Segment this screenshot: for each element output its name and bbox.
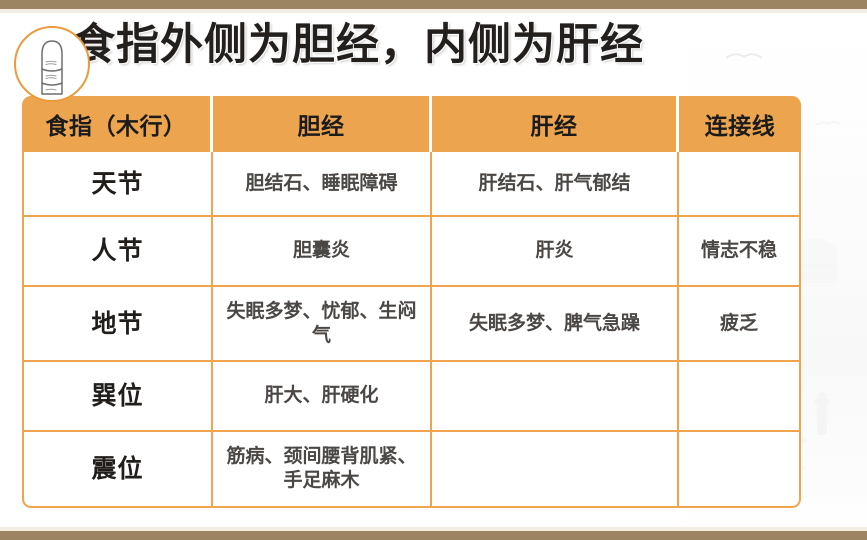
table-row: 巽位 肝大、肝硬化 — [22, 362, 801, 432]
column-header-finger: 食指（木行） — [22, 96, 213, 152]
column-header-connection: 连接线 — [679, 96, 801, 152]
row-label-xunwei: 巽位 — [22, 362, 213, 432]
cell-gallbladder-zhenwei: 筋病、颈间腰背肌紧、手足麻木 — [213, 432, 432, 508]
cell-gallbladder-renjie: 胆囊炎 — [213, 217, 432, 287]
table-row: 天节 胆结石、睡眠障碍 肝结石、肝气郁结 — [22, 152, 801, 217]
cell-liver-tianjie: 肝结石、肝气郁结 — [432, 152, 679, 217]
cell-liver-renjie: 肝炎 — [432, 217, 679, 287]
cell-connection-renjie: 情志不稳 — [679, 217, 801, 287]
top-frame-bar — [0, 0, 867, 9]
row-label-tianjie: 天节 — [22, 152, 213, 217]
row-label-renjie: 人节 — [22, 217, 213, 287]
cell-liver-xunwei — [432, 362, 679, 432]
top-frame-hairline — [0, 9, 867, 13]
meridian-table-container: 食指（木行） 胆经 肝经 连接线 天节 胆结石、睡眠障碍 肝结石、肝气郁结 人节… — [22, 96, 801, 508]
table-row: 震位 筋病、颈间腰背肌紧、手足麻木 — [22, 432, 801, 508]
table-row: 人节 胆囊炎 肝炎 情志不稳 — [22, 217, 801, 287]
cell-liver-zhenwei — [432, 432, 679, 508]
cell-connection-zhenwei — [679, 432, 801, 508]
cell-gallbladder-tianjie: 胆结石、睡眠障碍 — [213, 152, 432, 217]
slide-canvas: 食指外侧为胆经，内侧为肝经 食指（木行） 胆经 肝经 连接线 天节 胆结石、睡眠… — [0, 0, 867, 540]
cell-liver-dijie: 失眠多梦、脾气急躁 — [432, 287, 679, 362]
page-title: 食指外侧为胆经，内侧为肝经 — [72, 14, 792, 76]
meridian-table: 食指（木行） 胆经 肝经 连接线 天节 胆结石、睡眠障碍 肝结石、肝气郁结 人节… — [22, 96, 801, 508]
bottom-frame-bar — [0, 531, 867, 540]
row-label-dijie: 地节 — [22, 287, 213, 362]
finger-illustration-icon — [14, 26, 90, 102]
cell-connection-tianjie — [679, 152, 801, 217]
cell-gallbladder-xunwei: 肝大、肝硬化 — [213, 362, 432, 432]
cell-connection-dijie: 疲乏 — [679, 287, 801, 362]
column-header-gallbladder: 胆经 — [213, 96, 432, 152]
cell-connection-xunwei — [679, 362, 801, 432]
column-header-liver: 肝经 — [432, 96, 679, 152]
bird-icon — [816, 122, 840, 125]
table-header-row: 食指（木行） 胆经 肝经 连接线 — [22, 96, 801, 152]
table-row: 地节 失眠多梦、忧郁、生闷气 失眠多梦、脾气急躁 疲乏 — [22, 287, 801, 362]
cell-gallbladder-dijie: 失眠多梦、忧郁、生闷气 — [213, 287, 432, 362]
row-label-zhenwei: 震位 — [22, 432, 213, 508]
